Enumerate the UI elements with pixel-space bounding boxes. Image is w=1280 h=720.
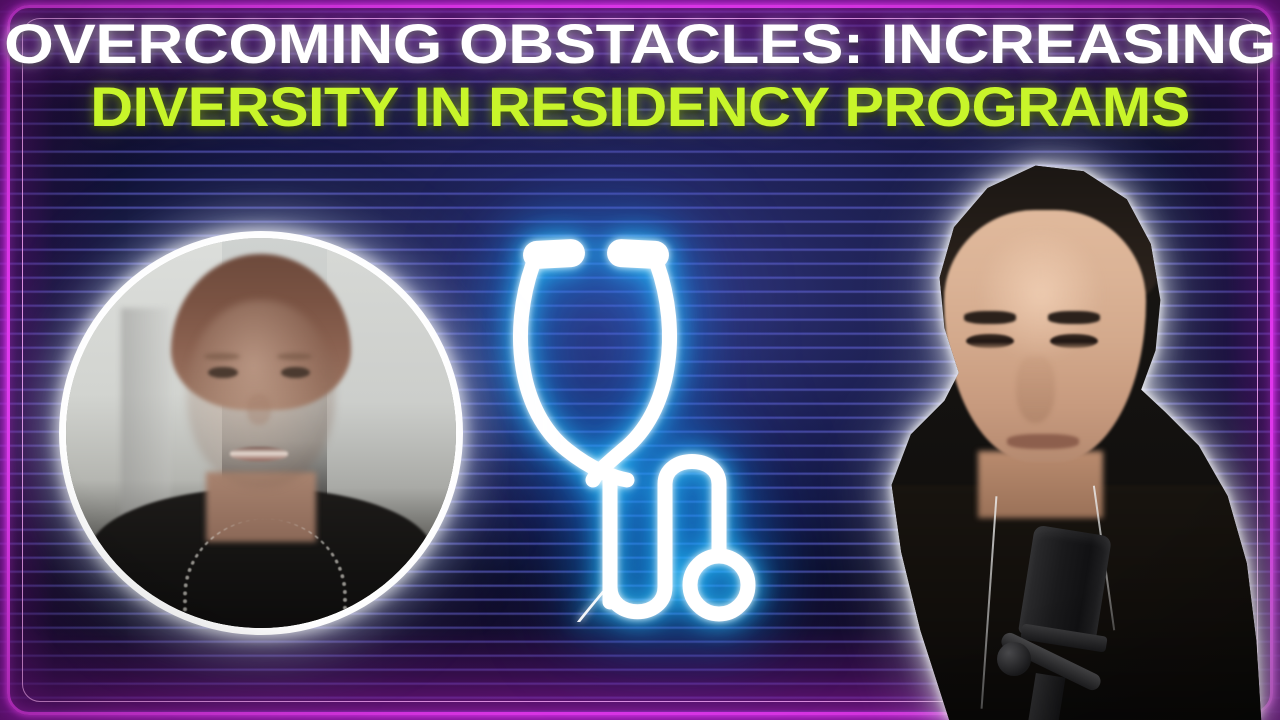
- host-nose: [1016, 356, 1054, 423]
- microphone-knob: [997, 642, 1031, 676]
- guest-avatar: [66, 238, 456, 628]
- avatar-brow-right: [277, 353, 312, 360]
- host-eye-right: [1050, 334, 1098, 349]
- host-mouth: [1007, 434, 1079, 449]
- guest-avatar-photo: [66, 238, 456, 628]
- host-brow-right: [1048, 311, 1101, 323]
- avatar-bg-doorframe: [121, 308, 172, 526]
- host-portrait-cutout: [786, 160, 1266, 720]
- host-portrait: [786, 160, 1266, 720]
- video-thumbnail: OVERCOMING OBSTACLES: INCREASING DIVERSI…: [0, 0, 1280, 720]
- avatar-eye-left: [208, 367, 237, 379]
- stethoscope-eartip-left: [522, 238, 585, 269]
- stethoscope-icon: [497, 212, 807, 622]
- avatar-mouth: [230, 447, 289, 461]
- avatar-nose: [247, 394, 270, 425]
- host-brow-left: [964, 311, 1017, 323]
- stethoscope-eartip-right: [606, 238, 669, 269]
- avatar-brow-left: [204, 353, 239, 360]
- avatar-eye-right: [281, 367, 310, 379]
- host-eye-left: [966, 334, 1014, 349]
